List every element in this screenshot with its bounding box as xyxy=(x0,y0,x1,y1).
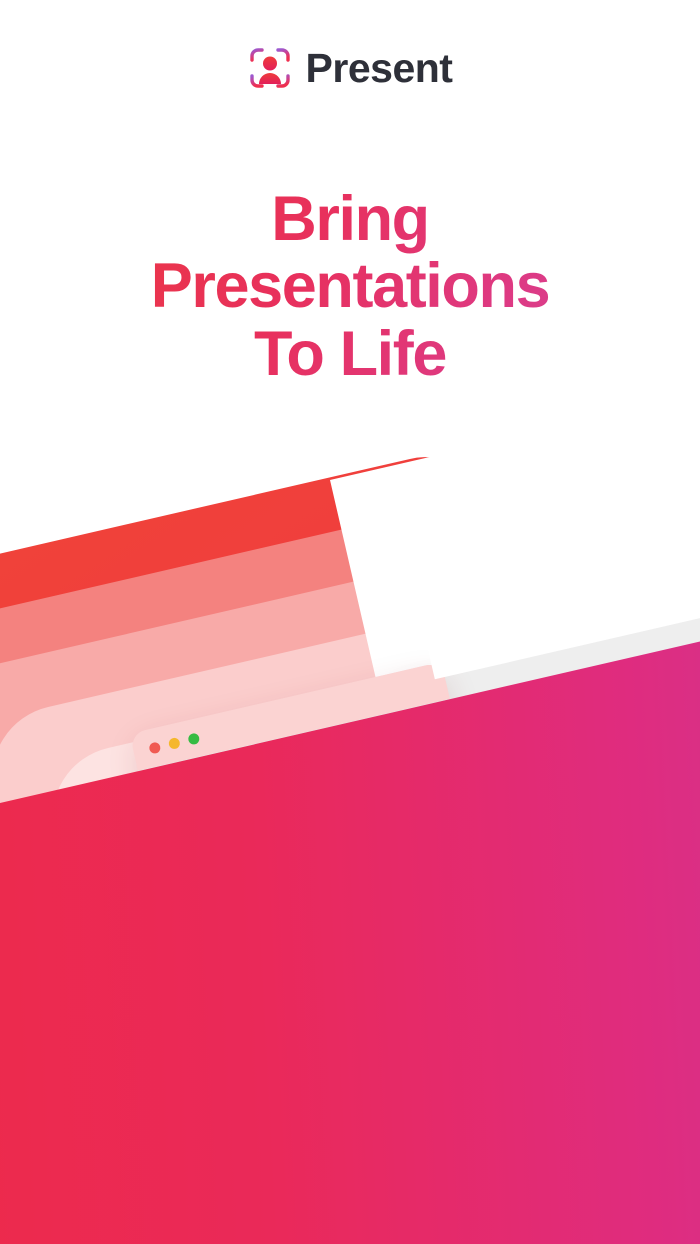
minimize-dot-icon[interactable] xyxy=(168,736,181,749)
page-title: Bring Presentations To Life xyxy=(0,186,700,388)
present-person-frame-icon xyxy=(248,46,292,90)
close-dot-icon[interactable] xyxy=(148,741,161,754)
headline-line-3: To Life xyxy=(0,321,700,388)
brand-wordmark: Present xyxy=(306,48,453,89)
maximize-dot-icon[interactable] xyxy=(187,732,200,745)
app-store-promo-screenshot: Present Bring Presentations To Life Yoga… xyxy=(0,0,700,1244)
brand-header: Present xyxy=(0,46,700,90)
hero-artwork: Yoga w/ Ricardo Vale xyxy=(0,440,700,1244)
headline-line-2: Presentations xyxy=(0,253,700,320)
headline-line-1: Bring xyxy=(0,186,700,253)
